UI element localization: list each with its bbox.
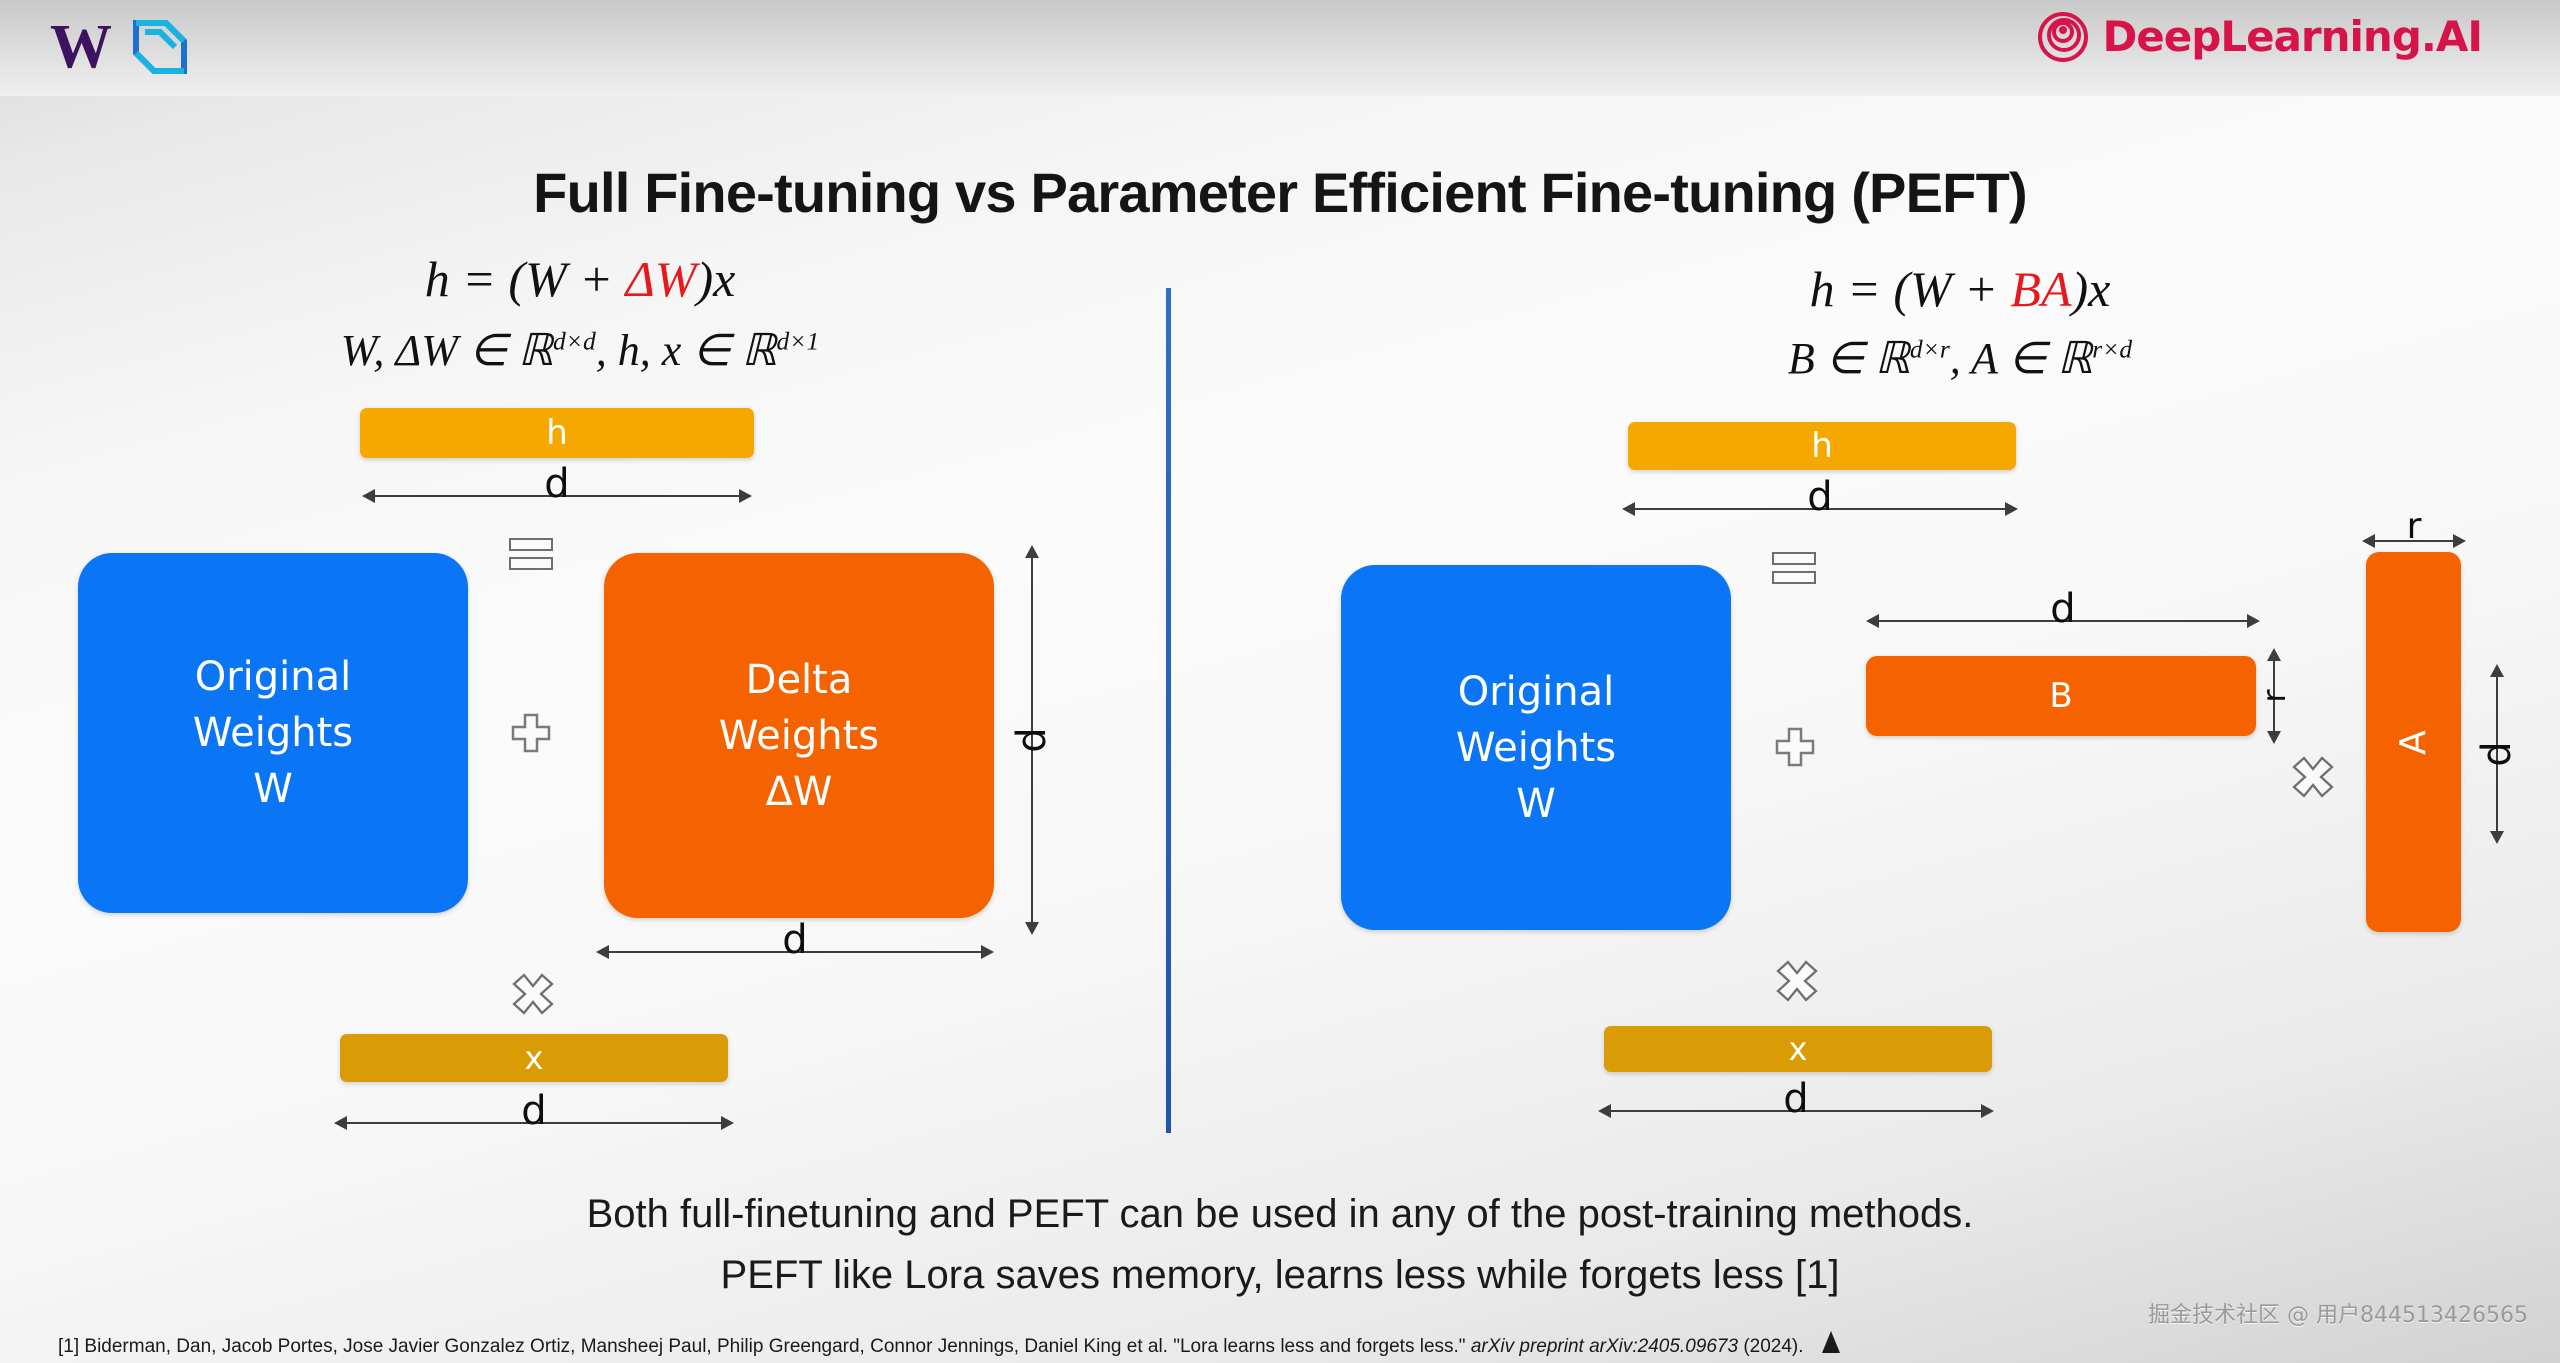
uw-w-icon: W [50, 18, 110, 76]
left-equation-main: h = (W + ΔW)x [0, 250, 1160, 308]
left-original-weights-box: Original Weights W [78, 553, 468, 913]
right-original-weights-box: Original Weights W [1341, 565, 1731, 930]
citation: [1] Biderman, Dan, Jacob Portes, Jose Ja… [58, 1336, 1804, 1358]
left-x-box-label: x [525, 1039, 544, 1077]
right-a-box: A [2366, 552, 2461, 932]
left-h-box: h [360, 408, 754, 458]
left-dw-line3: ΔW [766, 764, 833, 820]
left-x-box: x [340, 1034, 728, 1082]
right-x-box-label: x [1789, 1030, 1808, 1068]
panel-divider [1166, 288, 1171, 1133]
left-h-width-arrow: d [362, 495, 752, 497]
right-x-width-arrow: d [1598, 1110, 1994, 1112]
left-times-icon [511, 972, 553, 1014]
right-b-times-icon [2291, 755, 2333, 797]
brand-name: DeepLearning.AI [2102, 12, 2482, 62]
right-a-width-arrow: r [2362, 540, 2466, 542]
right-h-box: h [1628, 422, 2016, 470]
citation-plain-start: [1] Biderman, Dan, Jacob Portes, Jose Ja… [58, 1336, 1471, 1357]
right-x-times-icon [1775, 959, 1817, 1001]
footer-line-1: Both full-finetuning and PEFT can be use… [0, 1192, 2560, 1237]
left-delta-weights-box: Delta Weights ΔW [604, 553, 994, 918]
left-equals-icon [509, 538, 553, 572]
left-dw-line2: Weights [719, 708, 879, 764]
left-ow-line2: Weights [193, 705, 353, 761]
right-h-box-label: h [1811, 426, 1833, 466]
right-ow-line1: Original [1458, 664, 1615, 720]
left-h-box-label: h [546, 413, 568, 453]
left-delta-height-arrow: d [1031, 545, 1033, 935]
deeplearning-spiral-icon [2038, 12, 2088, 62]
nw-n-logo-icon [132, 19, 188, 75]
right-b-height-arrow: r [2273, 648, 2275, 744]
left-delta-width-arrow: d [596, 951, 994, 953]
right-ow-line2: Weights [1456, 720, 1616, 776]
header-bar: W DeepLearning.AI [0, 0, 2560, 96]
deeplearning-ai-logo-group: DeepLearning.AI [2038, 12, 2482, 62]
watermark: 掘金技术社区 @ 用户844513426565 [2148, 1297, 2528, 1329]
right-a-height-arrow: d [2496, 664, 2498, 844]
left-x-width-arrow: d [334, 1122, 734, 1124]
left-dw-line1: Delta [746, 652, 853, 708]
citation-arxiv-ref: arXiv preprint arXiv:2405.09673 [1471, 1336, 1738, 1357]
uw-logo-group: W [50, 18, 188, 76]
right-x-box: x [1604, 1026, 1992, 1072]
left-ow-line1: Original [195, 649, 352, 705]
citation-plain-end: (2024). [1738, 1336, 1803, 1357]
right-equation-dims: B ∈ ℝd×r, A ∈ ℝr×d [1360, 333, 2560, 384]
slide-root: W DeepLearning.AI [0, 0, 2560, 1363]
left-plus-icon [510, 712, 552, 754]
right-h-width-arrow: d [1622, 508, 2018, 510]
right-a-box-label: A [2393, 730, 2434, 755]
right-b-box: B [1866, 656, 2256, 736]
left-equation-dims: W, ΔW ∈ ℝd×d, h, x ∈ ℝd×1 [0, 325, 1160, 376]
right-b-box-label: B [2049, 676, 2072, 716]
right-equals-icon [1772, 552, 1816, 586]
right-equation-main: h = (W + BA)x [1360, 260, 2560, 318]
right-plus-icon [1774, 726, 1816, 768]
right-ow-line3: W [1516, 776, 1556, 832]
mouse-cursor-icon [1822, 1331, 1840, 1353]
page-title: Full Fine-tuning vs Parameter Efficient … [0, 160, 2560, 225]
right-b-width-arrow: d [1866, 620, 2260, 622]
footer-line-2: PEFT like Lora saves memory, learns less… [0, 1253, 2560, 1298]
left-ow-line3: W [253, 761, 293, 817]
